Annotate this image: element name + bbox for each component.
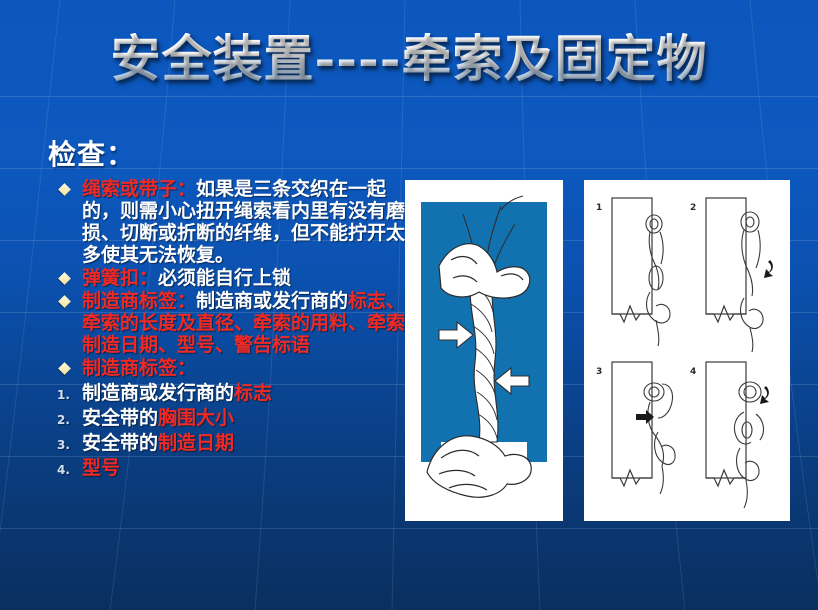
list-number: 3. — [57, 438, 70, 452]
page-title: 安全装置----牵索及固定物 — [110, 33, 707, 86]
diamond-bullet-icon — [58, 183, 71, 196]
snap-hook-steps-illustration: 1 2 — [584, 180, 790, 521]
rope-inspection-illustration — [405, 180, 563, 521]
section-heading: 检查： — [42, 133, 407, 173]
bullet-segment: 制造商标签： — [82, 290, 196, 312]
bullet-segment: 制造商标签： — [82, 357, 196, 379]
hooks-figure-svg: 1 2 — [584, 180, 790, 521]
numbered-text-3: 安全带的制造日期 — [82, 432, 407, 454]
list-item: 绳索或带子：如果是三条交织在一起的，则需小心扭开绳索看内里有没有磨损、切断或折断… — [42, 178, 407, 266]
panel-number: 3 — [596, 367, 602, 377]
bullet-segment: 制造商或发行商的 — [82, 382, 234, 404]
panel-number: 1 — [596, 203, 602, 213]
bullet-segment: 型号 — [82, 457, 120, 479]
panel-number: 4 — [690, 367, 696, 377]
bullet-segment: 弹簧扣： — [82, 267, 158, 289]
bullet-text-springhook: 弹簧扣：必须能自行上锁 — [82, 267, 407, 289]
list-number: 4. — [57, 463, 70, 477]
bullet-text-label: 制造商标签：制造商或发行商的标志、牵索的长度及直径、牵索的用料、牵索制造日期、型… — [82, 290, 407, 356]
list-number: 2. — [57, 413, 70, 427]
list-item: 3. 安全带的制造日期 — [42, 432, 407, 454]
content-text-column: 检查： 绳索或带子：如果是三条交织在一起的，则需小心扭开绳索看内里有没有磨损、切… — [42, 133, 407, 479]
bullet-segment: 绳索或带子： — [82, 178, 196, 200]
bullet-text-label-2: 制造商标签： — [82, 357, 407, 379]
list-number: 1. — [57, 388, 70, 402]
numbered-text-1: 制造商或发行商的标志 — [82, 382, 407, 404]
numbered-text-2: 安全带的胸围大小 — [82, 407, 407, 429]
numbered-text-4: 型号 — [82, 457, 407, 479]
list-item: 1. 制造商或发行商的标志 — [42, 382, 407, 404]
diamond-bullet-icon — [58, 362, 71, 375]
panel-number: 2 — [690, 203, 696, 213]
bullet-text-rope: 绳索或带子：如果是三条交织在一起的，则需小心扭开绳索看内里有没有磨损、切断或折断… — [82, 178, 407, 266]
list-item: 制造商标签： — [42, 357, 407, 379]
bullet-segment: 安全带的 — [82, 432, 158, 454]
bullet-segment: 必须能自行上锁 — [158, 267, 291, 289]
diamond-bullet-icon — [58, 272, 71, 285]
bullet-segment: 安全带的 — [82, 407, 158, 429]
list-item: 制造商标签：制造商或发行商的标志、牵索的长度及直径、牵索的用料、牵索制造日期、型… — [42, 290, 407, 356]
rope-figure-svg — [405, 180, 563, 521]
bullet-segment: 制造商或发行商的 — [196, 290, 348, 312]
background-gridline — [0, 528, 818, 529]
list-item: 弹簧扣：必须能自行上锁 — [42, 267, 407, 289]
bullet-segment: 胸围大小 — [158, 407, 234, 429]
list-item: 2. 安全带的胸围大小 — [42, 407, 407, 429]
list-item: 4. 型号 — [42, 457, 407, 479]
background-gridline — [0, 96, 818, 97]
bullet-segment: 标志 — [234, 382, 272, 404]
slide-canvas: 安全装置----牵索及固定物 检查： 绳索或带子：如果是三条交织在一起的，则需小… — [0, 0, 818, 610]
slide-title-block: 安全装置----牵索及固定物 — [0, 33, 818, 86]
bullet-segment: 制造日期 — [158, 432, 234, 454]
diamond-bullet-icon — [58, 295, 71, 308]
